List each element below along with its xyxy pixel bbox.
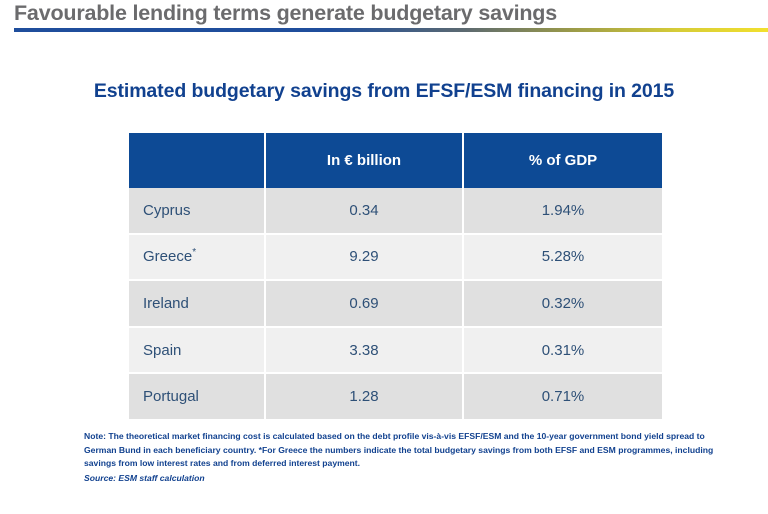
column-header-billion: In € billion — [266, 133, 464, 188]
cell-billion: 9.29 — [266, 235, 464, 282]
cell-billion: 1.28 — [266, 374, 464, 419]
footnote-marker-icon: * — [192, 247, 196, 258]
header-accent-rule — [14, 28, 768, 32]
column-header-country — [129, 133, 266, 188]
table-header: In € billion % of GDP — [129, 133, 662, 188]
country-label: Ireland — [143, 295, 189, 312]
column-header-gdp: % of GDP — [464, 133, 662, 188]
table-body: Cyprus 0.34 1.94% Greece* 9.29 5.28% Ire… — [129, 188, 662, 419]
slide-header: Favourable lending terms generate budget… — [0, 0, 768, 34]
cell-billion: 0.69 — [266, 281, 464, 328]
country-label: Portugal — [143, 388, 199, 405]
table-row: Portugal 1.28 0.71% — [129, 374, 662, 419]
cell-gdp: 0.71% — [464, 374, 662, 419]
footnote-line-3: savings from low interest rates and from… — [84, 457, 764, 471]
cell-country: Portugal — [129, 374, 266, 419]
cell-gdp: 0.32% — [464, 281, 662, 328]
cell-billion: 3.38 — [266, 328, 464, 375]
country-label: Spain — [143, 342, 181, 359]
cell-country: Ireland — [129, 281, 266, 328]
table-row: Cyprus 0.34 1.94% — [129, 188, 662, 235]
budgetary-savings-table: In € billion % of GDP Cyprus 0.34 1.94% … — [129, 133, 662, 419]
cell-country: Cyprus — [129, 188, 266, 235]
cell-country: Greece* — [129, 235, 266, 282]
chart-title: Estimated budgetary savings from EFSF/ES… — [0, 80, 768, 103]
footnote-source: Source: ESM staff calculation — [84, 472, 764, 486]
footnote-block: Note: The theoretical market financing c… — [84, 430, 764, 485]
table-row: Spain 3.38 0.31% — [129, 328, 662, 375]
cell-gdp: 5.28% — [464, 235, 662, 282]
cell-billion: 0.34 — [266, 188, 464, 235]
cell-country: Spain — [129, 328, 266, 375]
slide-header-title: Favourable lending terms generate budget… — [14, 1, 557, 26]
table-row: Ireland 0.69 0.32% — [129, 281, 662, 328]
cell-gdp: 1.94% — [464, 188, 662, 235]
footnote-line-1: Note: The theoretical market financing c… — [84, 430, 764, 444]
table-row: Greece* 9.29 5.28% — [129, 235, 662, 282]
footnote-line-2: German Bund in each beneficiary country.… — [84, 444, 764, 458]
country-label: Cyprus — [143, 202, 191, 219]
country-label: Greece — [143, 248, 192, 265]
table-header-row: In € billion % of GDP — [129, 133, 662, 188]
cell-gdp: 0.31% — [464, 328, 662, 375]
